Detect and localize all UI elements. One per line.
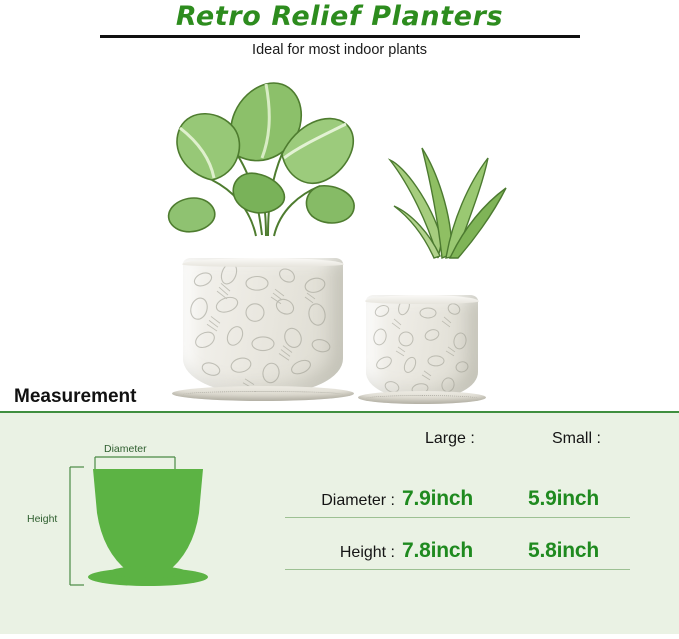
value-height-large: 7.8inch xyxy=(402,539,473,563)
large-planter-relief-pattern xyxy=(183,258,343,394)
diameter-dimension-label: Diameter xyxy=(104,443,147,455)
row-label-diameter: Diameter : xyxy=(285,492,395,510)
large-plant-leaves-svg xyxy=(150,70,380,240)
column-header-large: Large : xyxy=(425,430,475,448)
row-divider-height xyxy=(285,569,630,570)
row-divider-diameter xyxy=(285,517,630,518)
large-planter xyxy=(183,258,343,413)
product-photo xyxy=(0,62,679,380)
small-planter-relief-pattern xyxy=(366,295,478,399)
dimension-diagram: Diameter Height xyxy=(0,413,280,634)
measurement-panel: Diameter Height Large : Small : Diameter… xyxy=(0,413,679,634)
snake-plant-foliage xyxy=(372,140,512,250)
value-diameter-small: 5.9inch xyxy=(528,487,599,511)
snake-plant-blades xyxy=(390,148,506,258)
height-bracket xyxy=(70,467,84,585)
value-height-small: 5.8inch xyxy=(528,539,599,563)
measurement-heading: Measurement xyxy=(14,386,137,408)
small-planter-body xyxy=(366,295,478,399)
product-infographic: Retro Relief Planters Ideal for most ind… xyxy=(0,0,679,634)
page-title: Retro Relief Planters xyxy=(0,0,679,34)
height-dimension-label: Height xyxy=(27,513,57,525)
large-planter-saucer xyxy=(172,386,354,401)
large-planter-rim xyxy=(182,258,344,267)
small-planter-rim xyxy=(365,295,479,304)
large-planter-body xyxy=(183,258,343,394)
column-header-small: Small : xyxy=(552,430,601,448)
small-plant-leaves-svg xyxy=(372,140,512,260)
header: Retro Relief Planters Ideal for most ind… xyxy=(0,0,679,62)
leaf-shapes xyxy=(169,83,355,232)
small-planter-saucer xyxy=(358,391,486,404)
row-label-height: Height : xyxy=(285,544,395,562)
specification-table: Large : Small : Diameter : 7.9inch 5.9in… xyxy=(285,413,679,634)
diameter-bracket xyxy=(95,457,175,471)
small-planter xyxy=(366,295,478,413)
syngonium-plant-foliage xyxy=(150,70,380,230)
pot-silhouette xyxy=(88,469,208,586)
value-diameter-large: 7.9inch xyxy=(402,487,473,511)
page-subtitle: Ideal for most indoor plants xyxy=(0,38,679,62)
